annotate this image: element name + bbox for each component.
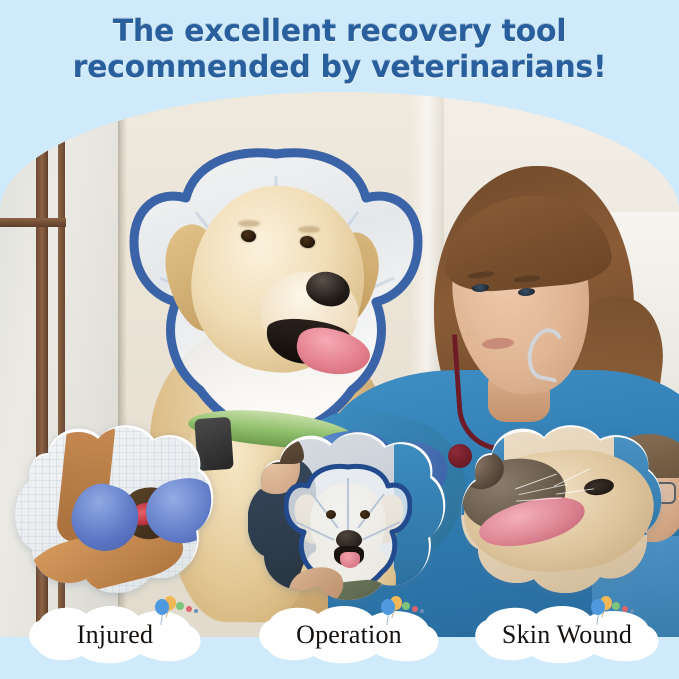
operation-dog-eye-left: [326, 510, 336, 519]
headline-line-2: recommended by veterinarians!: [0, 50, 679, 86]
use-case-label-text: Operation: [296, 622, 402, 648]
operation-dog-eye-right: [360, 510, 370, 519]
use-case-label-text: Injured: [77, 622, 153, 648]
advertisement-root: The excellent recovery tool recommended …: [0, 0, 679, 679]
use-case-photo-operation: [248, 432, 444, 600]
dog-brow-right: [298, 226, 320, 233]
headline-line-1: The excellent recovery tool: [0, 14, 679, 50]
use-case-label-skin-wound[interactable]: Skin Wound: [470, 604, 664, 666]
use-case-photo-skin-wound: [456, 425, 662, 593]
use-case-photo-injured: [14, 425, 214, 593]
use-case-label-text: Skin Wound: [502, 622, 632, 648]
operation-dog-tongue: [340, 552, 360, 568]
door-frame-horizontal: [0, 218, 66, 227]
dog-brow-left: [238, 220, 260, 227]
headline: The excellent recovery tool recommended …: [0, 14, 679, 86]
use-case-label-injured[interactable]: Injured: [24, 604, 206, 666]
use-case-label-operation[interactable]: Operation: [254, 604, 444, 666]
